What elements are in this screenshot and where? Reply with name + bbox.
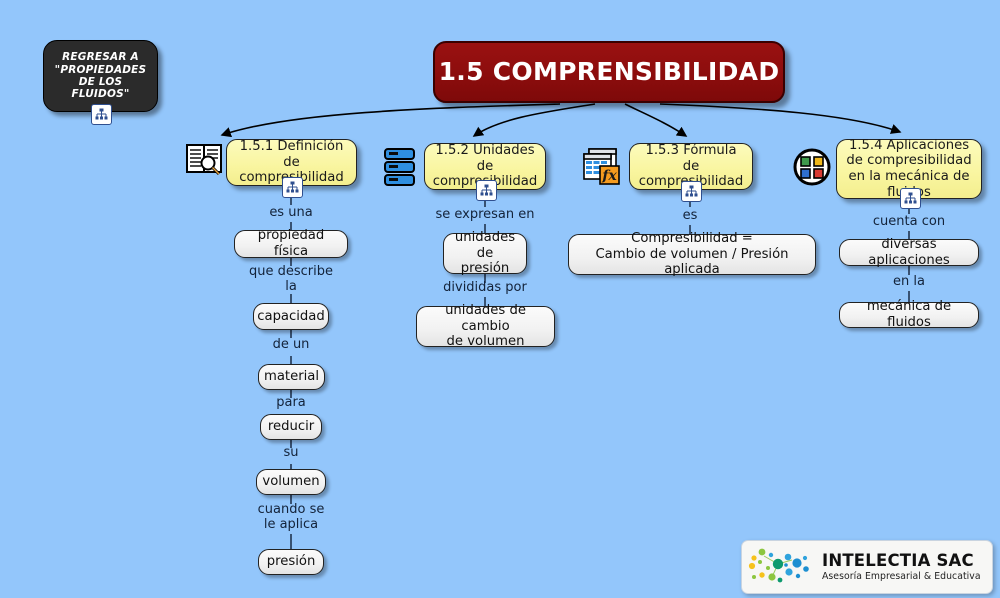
cmap-expand-glyph [684, 184, 699, 199]
database-stack-icon[interactable] [383, 147, 417, 190]
intelectia-sac-logo: INTELECTIA SAC Asesoría Empresarial & Ed… [741, 540, 993, 594]
cmap-expand-icon[interactable] [476, 180, 497, 201]
logo-title: INTELECTIA SAC [822, 552, 981, 569]
concept-map-canvas: REGRESAR A "PROPIEDADES DE LOS FLUIDOS" … [0, 0, 1000, 598]
node-propiedad-fisica-label: propiedad física [243, 228, 339, 259]
link-label-152-1: se expresan en [425, 208, 545, 223]
cmap-expand-icon[interactable] [900, 188, 921, 209]
four-squares-circle-icon[interactable] [792, 147, 832, 187]
cmap-expand-glyph [94, 107, 109, 122]
node-presion-label: presión [267, 554, 316, 570]
logo-subtitle: Asesoría Empresarial & Educativa [822, 571, 981, 582]
cmap-expand-icon[interactable] [282, 177, 303, 198]
cmap-expand-glyph [479, 183, 494, 198]
cmap-expand-glyph [285, 180, 300, 195]
node-diversas-aplicaciones-label: diversas aplicaciones [848, 237, 970, 268]
link-label-151-2: que describe la [231, 265, 351, 294]
cmap-expand-icon[interactable] [91, 104, 112, 125]
link-label-151-5: su [241, 446, 341, 461]
node-material[interactable]: material [258, 364, 325, 390]
node-reducir[interactable]: reducir [260, 414, 322, 440]
page-title-label: 1.5 COMPRENSIBILIDAD [439, 57, 780, 87]
node-presion[interactable]: presión [258, 549, 324, 575]
node-mecanica-de-fluidos[interactable]: mecánica de fluidos [839, 302, 979, 328]
link-label-151-1: es una [231, 206, 351, 221]
node-unidades-de-presion[interactable]: unidades de presión [443, 233, 527, 274]
network-nodes-logo [742, 544, 818, 590]
logo-text-block: INTELECTIA SAC Asesoría Empresarial & Ed… [818, 552, 981, 582]
node-volumen-label: volumen [262, 474, 319, 490]
node-capacidad-label: capacidad [257, 309, 325, 325]
link-label-151-6: cuando se le aplica [236, 503, 346, 532]
node-diversas-aplicaciones[interactable]: diversas aplicaciones [839, 239, 979, 266]
node-reducir-label: reducir [268, 419, 314, 435]
svg-text:fx: fx [601, 168, 617, 184]
page-title[interactable]: 1.5 COMPRENSIBILIDAD [433, 41, 785, 103]
node-propiedad-fisica[interactable]: propiedad física [234, 230, 348, 258]
cmap-expand-icon[interactable] [681, 181, 702, 202]
node-formula-compresibilidad-label: Compresibilidad = Cambio de volumen / Pr… [577, 231, 807, 278]
link-label-151-4: para [241, 396, 341, 411]
book-magnifier-icon[interactable] [186, 143, 224, 177]
node-material-label: material [264, 369, 319, 385]
cmap-expand-glyph [903, 191, 918, 206]
node-mecanica-de-fluidos-label: mecánica de fluidos [848, 299, 970, 330]
link-label-152-2: divididas por [425, 281, 545, 296]
node-capacidad[interactable]: capacidad [253, 303, 329, 330]
spreadsheet-formula-icon[interactable]: fx [583, 147, 623, 187]
node-unidades-de-cambio-de-volumen[interactable]: unidades de cambio de volumen [416, 306, 555, 347]
link-label-153-1: es [650, 209, 730, 224]
link-label-151-3: de un [241, 338, 341, 353]
node-formula-compresibilidad[interactable]: Compresibilidad = Cambio de volumen / Pr… [568, 234, 816, 275]
link-label-154-2: en la [859, 275, 959, 290]
return-button-label: REGRESAR A "PROPIEDADES DE LOS FLUIDOS" [55, 51, 147, 101]
node-volumen[interactable]: volumen [256, 469, 326, 495]
return-to-fluid-properties-button[interactable]: REGRESAR A "PROPIEDADES DE LOS FLUIDOS" [43, 40, 158, 112]
node-unidades-de-presion-label: unidades de presión [452, 230, 518, 277]
node-unidades-de-cambio-de-volumen-label: unidades de cambio de volumen [425, 303, 546, 350]
link-label-154-1: cuenta con [849, 215, 969, 230]
